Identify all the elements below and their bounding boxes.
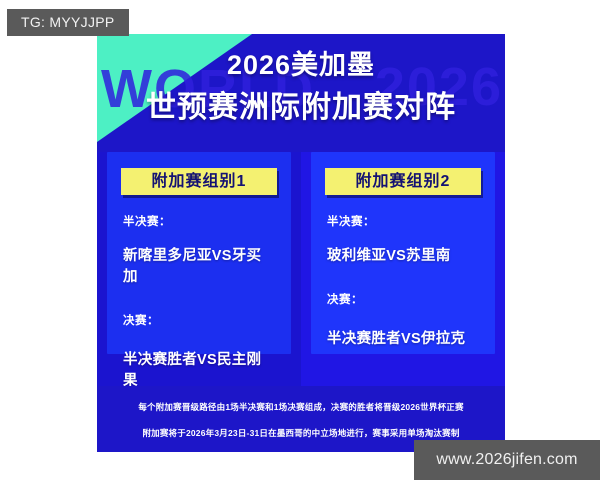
- group-1-semifinal-label: 半决赛：: [123, 213, 275, 229]
- group-2-stages: 半决赛： 玻利维亚VS苏里南 决赛： 半决赛胜者VS伊拉克: [311, 213, 495, 348]
- page-title-line2: 世预赛洲际附加赛对阵: [97, 88, 505, 128]
- tournament-poster: WORLD 2026 2026美加墨 世预赛洲际附加赛对阵 附加赛组别1 半决赛…: [97, 34, 505, 452]
- poster-headline: 2026美加墨 世预赛洲际附加赛对阵: [97, 48, 505, 128]
- footnote-line-2: 附加赛将于2026年3月23日-31日在墨西哥的中立场地进行，赛事采用单场淘汰赛…: [97, 427, 505, 440]
- website-watermark: www.2026jifen.com: [414, 440, 600, 480]
- group-1-stages: 半决赛： 新喀里多尼亚VS牙买加 决赛： 半决赛胜者VS民主刚果: [107, 213, 291, 390]
- playoff-group-2: 附加赛组别2 半决赛： 玻利维亚VS苏里南 决赛： 半决赛胜者VS伊拉克: [301, 152, 505, 387]
- group-2-semifinal-label: 半决赛：: [327, 213, 479, 229]
- group-2-semifinal-matchup: 玻利维亚VS苏里南: [327, 244, 479, 265]
- footnote-line-1: 每个附加赛晋级路径由1场半决赛和1场决赛组成，决赛的胜者将晋级2026世界杯正赛: [97, 401, 505, 414]
- page-title-line1: 2026美加墨: [97, 48, 505, 82]
- group-2-banner: 附加赛组别2: [325, 168, 481, 195]
- group-1-final-matchup: 半决赛胜者VS民主刚果: [123, 348, 275, 390]
- group-1-final-label: 决赛：: [123, 312, 275, 328]
- group-2-final-label: 决赛：: [327, 291, 479, 307]
- group-1-semifinal-matchup: 新喀里多尼亚VS牙买加: [123, 244, 275, 286]
- playoff-groups: 附加赛组别1 半决赛： 新喀里多尼亚VS牙买加 决赛： 半决赛胜者VS民主刚果 …: [97, 152, 505, 387]
- playoff-group-1: 附加赛组别1 半决赛： 新喀里多尼亚VS牙买加 决赛： 半决赛胜者VS民主刚果: [97, 152, 301, 387]
- group-1-banner: 附加赛组别1: [121, 168, 277, 195]
- telegram-watermark: TG: MYYJJPP: [7, 9, 129, 36]
- group-2-final-matchup: 半决赛胜者VS伊拉克: [327, 327, 479, 348]
